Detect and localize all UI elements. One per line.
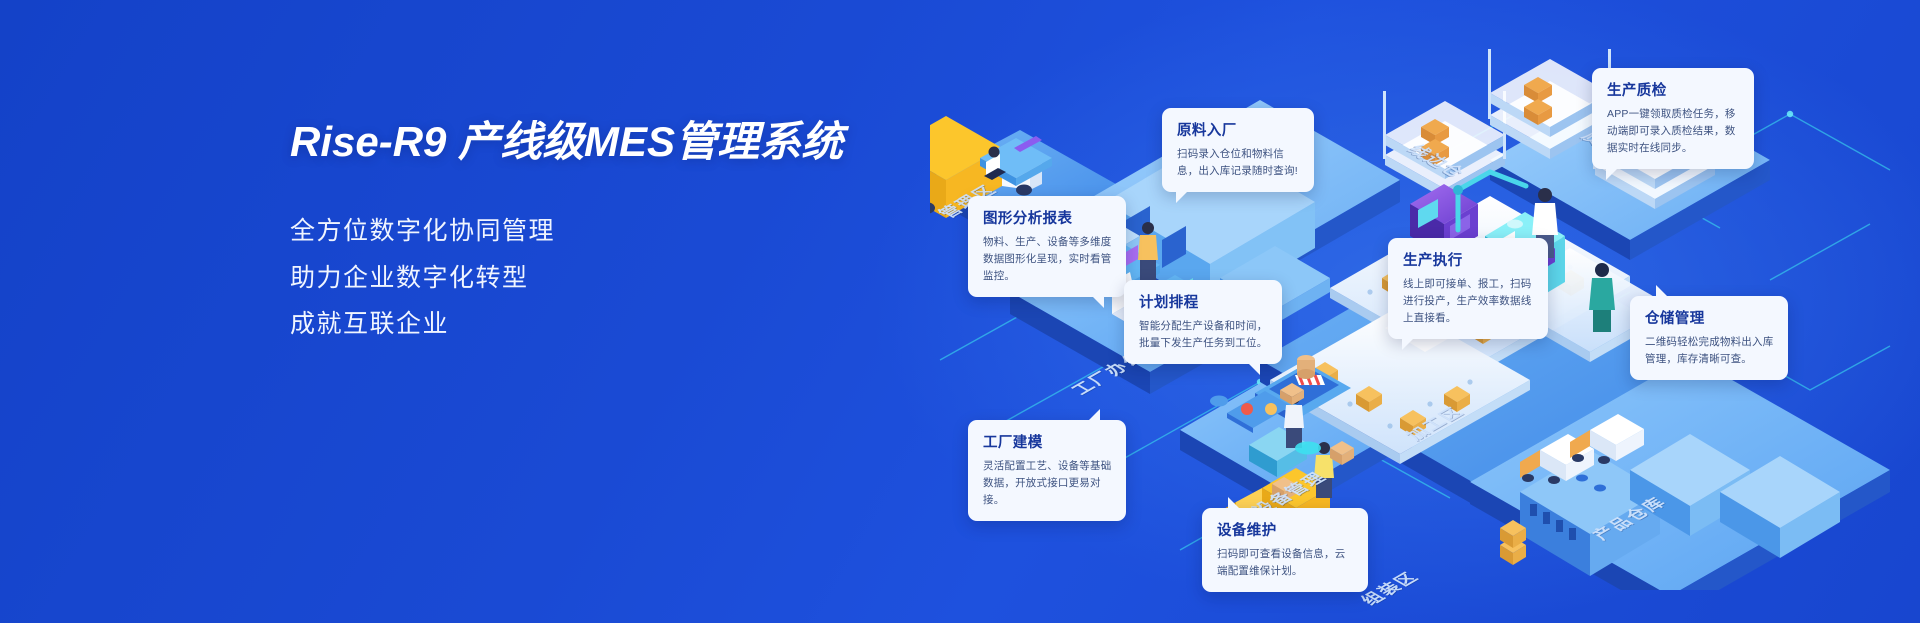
callout-tail-icon: [1249, 364, 1260, 375]
info-card-body: 扫码录入仓位和物料信息，出入库记录随时查询!: [1177, 146, 1300, 180]
callout-tail-icon: [1606, 169, 1617, 180]
hero-text-block: Rise-R9 产线级MES管理系统 全方位数字化协同管理 助力企业数字化转型 …: [290, 118, 910, 347]
hero-subtitle-line-2: 助力企业数字化转型: [290, 255, 910, 301]
info-card-body: 二维码轻松完成物料出入库管理，库存清晰可查。: [1645, 334, 1774, 368]
hero-subtitle-line-3: 成就互联企业: [290, 301, 910, 347]
callout-tail-icon: [1228, 497, 1240, 509]
paper-rolls: [1297, 355, 1315, 379]
info-card-body: 灵活配置工艺、设备等基础数据，开放式接口更易对接。: [983, 458, 1112, 509]
info-card-plan-scheduling[interactable]: 计划排程 智能分配生产设备和时间，批量下发生产任务到工位。: [1124, 280, 1282, 364]
callout-tail-icon: [1088, 409, 1100, 421]
callout-tail-icon: [1402, 339, 1413, 350]
info-card-body: APP一键领取质检任务，移动端即可录入质检结果，数据实时在线同步。: [1607, 106, 1740, 157]
info-card-title: 原料入厂: [1177, 119, 1300, 140]
info-card-title: 生产质检: [1607, 79, 1740, 100]
info-card-title: 仓储管理: [1645, 307, 1774, 328]
warehouse-boxes-stack: [1500, 520, 1526, 565]
callout-tail-icon: [1176, 192, 1187, 203]
info-card-body: 扫码即可查看设备信息，云端配置维保计划。: [1217, 546, 1354, 580]
page-title: Rise-R9 产线级MES管理系统: [290, 118, 910, 166]
robot-arm-joint: [1453, 185, 1463, 195]
hero-subtitle-line-1: 全方位数字化协同管理: [290, 208, 910, 254]
info-card-title: 生产执行: [1403, 249, 1534, 270]
info-card-body: 线上即可接单、报工，扫码进行投产，生产效率数据线上直接看。: [1403, 276, 1534, 327]
info-card-body: 物料、生产、设备等多维度数据图形化呈现，实时看管监控。: [983, 234, 1112, 285]
info-card-title: 设备维护: [1217, 519, 1354, 540]
info-card-production-execution[interactable]: 生产执行 线上即可接单、报工，扫码进行投产，生产效率数据线上直接看。: [1388, 238, 1548, 339]
info-card-warehouse-management[interactable]: 仓储管理 二维码轻松完成物料出入库管理，库存清晰可查。: [1630, 296, 1788, 380]
info-card-production-quality-inspection[interactable]: 生产质检 APP一键领取质检任务，移动端即可录入质检结果，数据实时在线同步。: [1592, 68, 1754, 169]
info-card-body: 智能分配生产设备和时间，批量下发生产任务到工位。: [1139, 318, 1268, 352]
info-card-title: 图形分析报表: [983, 207, 1112, 228]
hero-banner: Rise-R9 产线级MES管理系统 全方位数字化协同管理 助力企业数字化转型 …: [0, 0, 1920, 623]
hero-subtitle-list: 全方位数字化协同管理 助力企业数字化转型 成就互联企业: [290, 208, 910, 347]
info-card-factory-modeling[interactable]: 工厂建模 灵活配置工艺、设备等基础数据，开放式接口更易对接。: [968, 420, 1126, 521]
callout-tail-icon: [1656, 285, 1668, 297]
info-card-equipment-maintenance[interactable]: 设备维护 扫码即可查看设备信息，云端配置维保计划。: [1202, 508, 1368, 592]
info-card-graphic-analysis-report[interactable]: 图形分析报表 物料、生产、设备等多维度数据图形化呈现，实时看管监控。: [968, 196, 1126, 297]
info-card-raw-material-inbound[interactable]: 原料入厂 扫码录入仓位和物料信息，出入库记录随时查询!: [1162, 108, 1314, 192]
info-card-title: 工厂建模: [983, 431, 1112, 452]
callout-tail-icon: [1093, 297, 1104, 308]
info-card-title: 计划排程: [1139, 291, 1268, 312]
